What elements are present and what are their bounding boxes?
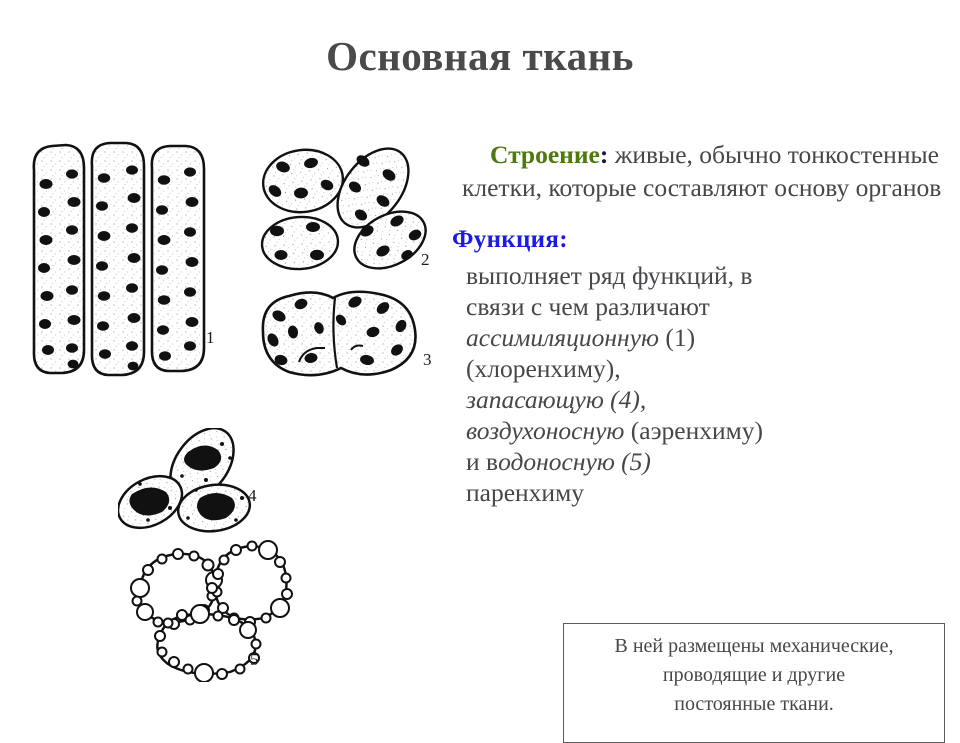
figure-label-4: 4	[248, 486, 257, 506]
structure-paragraph: Строение: живые, обычно тонкостенные кле…	[452, 138, 952, 204]
palisade-cells-drawing	[22, 132, 232, 382]
figure-storage-parenchyma: 4	[118, 428, 278, 538]
cell-cluster-drawing	[255, 288, 445, 378]
content-text-column: Строение: живые, обычно тонкостенные кле…	[452, 138, 952, 508]
note-line: постоянные ткани.	[574, 690, 934, 719]
function-term-assimilation: ассимиляционную	[466, 323, 665, 352]
structure-keyword: Строение	[490, 140, 600, 169]
slide-canvas: Основная ткань	[0, 0, 960, 720]
figure-label-5: 5	[250, 650, 259, 670]
function-term-storage: запасающую (4),	[466, 385, 646, 414]
function-aerenchyma-gloss: (аэренхиму)	[631, 416, 763, 445]
function-heading: Функция:	[452, 226, 952, 254]
figure-label-3: 3	[423, 350, 432, 370]
function-ref-1: (1)	[665, 323, 695, 352]
figure-aerenchyma: 5	[104, 532, 304, 682]
figure-armed-chlorenchyma: 3	[255, 288, 445, 378]
page-title: Основная ткань	[0, 32, 960, 80]
storage-cells-drawing	[118, 428, 278, 538]
figure-spongy-chlorenchyma: 2	[255, 143, 445, 273]
figure-label-1: 1	[206, 328, 215, 348]
function-line: запасающую (4),	[466, 384, 952, 415]
function-line-text: (хлоренхиму),	[466, 354, 621, 383]
note-textbox: В ней размещены механические, проводящие…	[563, 623, 945, 743]
note-line: В ней размещены механические,	[574, 632, 934, 661]
function-line: выполняет ряд функций, в	[466, 260, 952, 291]
function-line: (хлоренхиму),	[466, 353, 952, 384]
function-line-text: связи с чем различают	[466, 292, 710, 321]
function-line: паренхиму	[466, 477, 952, 508]
function-term-aerenchyma: воздухоносную	[466, 416, 631, 445]
function-line: воздухоносную (аэренхиму)	[466, 415, 952, 446]
round-cells-drawing	[255, 143, 445, 273]
function-line: и водоносную (5)	[466, 446, 952, 477]
function-paragraph: выполняет ряд функций, в связи с чем раз…	[452, 260, 952, 508]
function-line: связи с чем различают	[466, 291, 952, 322]
figure-label-2: 2	[421, 250, 430, 270]
function-line: ассимиляционную (1)	[466, 322, 952, 353]
function-term-water: одоносную (5)	[498, 447, 651, 476]
function-conjunction: и в	[466, 447, 498, 476]
note-line: проводящие и другие	[574, 661, 934, 690]
aerenchyma-drawing	[104, 532, 304, 682]
function-line-text: паренхиму	[466, 478, 584, 507]
function-line-text: выполняет ряд функций, в	[466, 261, 752, 290]
figure-palisade-chlorenchyma: 1	[22, 132, 232, 382]
